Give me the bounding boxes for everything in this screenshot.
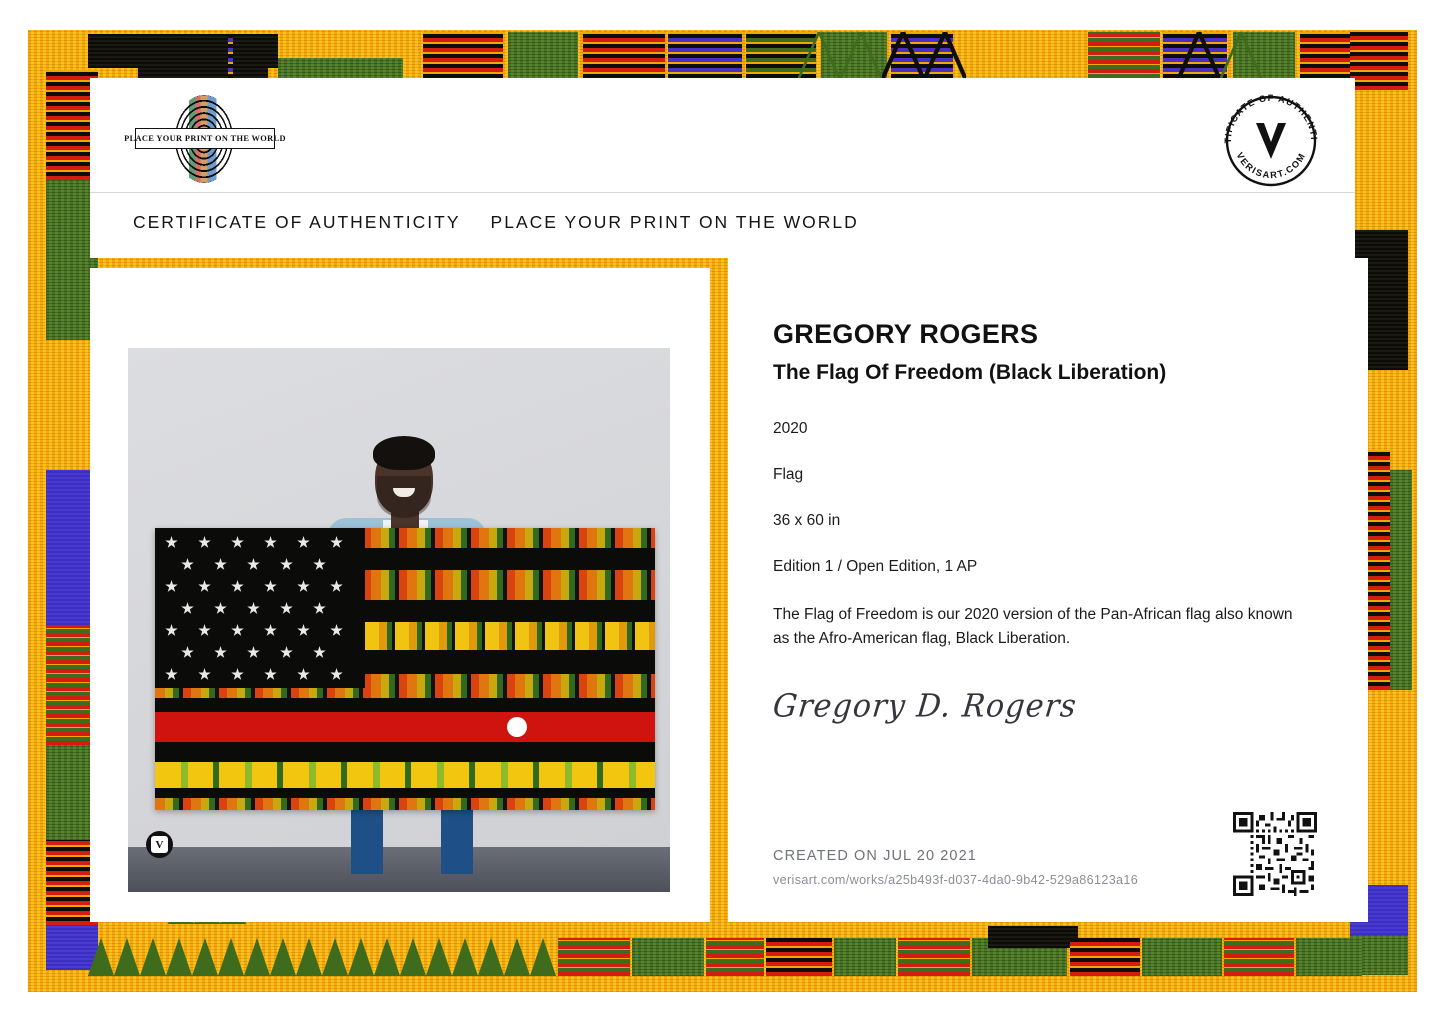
kente-chevron (798, 32, 840, 80)
kente-triangle-row (88, 938, 556, 976)
flag-white-dot (507, 717, 527, 737)
kente-triangle (452, 938, 478, 976)
kente-triangle (270, 938, 296, 976)
flag-stripe (155, 798, 655, 810)
place-your-print-logo: PLACE YOUR PRINT ON THE WORLD (135, 95, 275, 183)
artwork-details: GREGORY ROGERS The Flag Of Freedom (Blac… (773, 318, 1333, 724)
flag-artwork (155, 528, 655, 810)
kente-triangle (400, 938, 426, 976)
kente-chevron (1220, 32, 1262, 80)
kente-triangle (348, 938, 374, 976)
kente-motif (706, 938, 764, 976)
artist-name: GREGORY ROGERS (773, 318, 1333, 352)
verisart-badge-mark: V (151, 836, 168, 853)
kente-triangle (478, 938, 504, 976)
verisart-badge-icon: V (146, 831, 173, 858)
created-on-date: CREATED ON JUL 20 2021 (773, 848, 1203, 864)
header-divider (90, 192, 1355, 193)
certificate-footer: CREATED ON JUL 20 2021 verisart.com/work… (773, 848, 1203, 887)
flag-stripe (155, 788, 655, 798)
kente-motif (1350, 30, 1408, 90)
logo-banner-text: PLACE YOUR PRINT ON THE WORLD (124, 134, 286, 143)
artist-signature: Gregory D. Rogers (771, 688, 1335, 725)
kente-chevron (882, 32, 924, 80)
artwork-edition: Edition 1 / Open Edition, 1 AP (773, 557, 1333, 577)
flag-stripe (155, 698, 655, 712)
kente-chevron-row (1178, 32, 1262, 80)
kente-triangle (192, 938, 218, 976)
kente-motif (834, 938, 896, 976)
kente-triangle (322, 938, 348, 976)
kente-motif (1224, 938, 1294, 976)
person-hair (373, 436, 435, 470)
kente-triangle (504, 938, 530, 976)
kente-motif (1070, 938, 1140, 976)
page-title: CERTIFICATE OF AUTHENTICITY (133, 212, 461, 233)
artwork-image: V (128, 348, 670, 892)
kente-triangle (114, 938, 140, 976)
photo-floor (128, 847, 670, 892)
kente-chevron (840, 32, 882, 80)
verisart-seal-icon: CERTIFICATE OF AUTHENTICITY VERISART.COM (1218, 88, 1324, 194)
artwork-medium: Flag (773, 465, 1333, 485)
kente-triangle (88, 938, 114, 976)
qr-code[interactable] (1233, 812, 1317, 896)
svg-text:CERTIFICATE OF AUTHENTICITY: CERTIFICATE OF AUTHENTICITY (1218, 88, 1319, 144)
kente-motif (632, 938, 704, 976)
flag-stars (155, 528, 365, 688)
page-subtitle: PLACE YOUR PRINT ON THE WORLD (491, 212, 859, 233)
kente-motif (1088, 32, 1160, 82)
kente-motif (988, 926, 1078, 948)
verisart-url[interactable]: verisart.com/works/a25b493f-d037-4da0-9b… (773, 873, 1203, 887)
kente-motif (1390, 470, 1412, 690)
kente-motif (558, 938, 630, 976)
flag-canton (155, 528, 365, 688)
kente-motif (898, 938, 970, 976)
kente-motif (668, 32, 742, 82)
flag-red-stripe (155, 712, 655, 742)
kente-motif (88, 34, 278, 68)
flag-zigzag-band (155, 762, 655, 788)
artwork-title: The Flag Of Freedom (Black Liberation) (773, 361, 1333, 385)
kente-motif (583, 32, 665, 82)
kente-chevron-row (798, 32, 966, 80)
logo-banner: PLACE YOUR PRINT ON THE WORLD (135, 128, 275, 149)
flag-stripe (155, 742, 655, 762)
kente-triangle (426, 938, 452, 976)
certificate-header-text: CERTIFICATE OF AUTHENTICITY PLACE YOUR P… (133, 212, 859, 233)
kente-motif (228, 32, 233, 82)
kente-motif (508, 32, 578, 82)
person-beard (377, 476, 431, 518)
kente-triangle (218, 938, 244, 976)
kente-motif (766, 938, 832, 976)
certificate-page: PLACE YOUR PRINT ON THE WORLD CERTIFICAT… (0, 0, 1445, 1022)
kente-triangle (166, 938, 192, 976)
kente-triangle (374, 938, 400, 976)
artwork-year: 2020 (773, 419, 1333, 439)
artwork-metadata-list: 2020 Flag 36 x 60 in Edition 1 / Open Ed… (773, 419, 1333, 652)
kente-chevron (924, 32, 966, 80)
kente-chevron (1178, 32, 1220, 80)
kente-motif (1296, 938, 1362, 976)
kente-triangle (296, 938, 322, 976)
kente-triangle (530, 938, 556, 976)
kente-triangle (140, 938, 166, 976)
kente-triangle (244, 938, 270, 976)
artwork-description: The Flag of Freedom is our 2020 version … (773, 603, 1313, 651)
kente-motif (423, 32, 503, 82)
artwork-dimensions: 36 x 60 in (773, 511, 1333, 531)
kente-motif (1142, 938, 1222, 976)
